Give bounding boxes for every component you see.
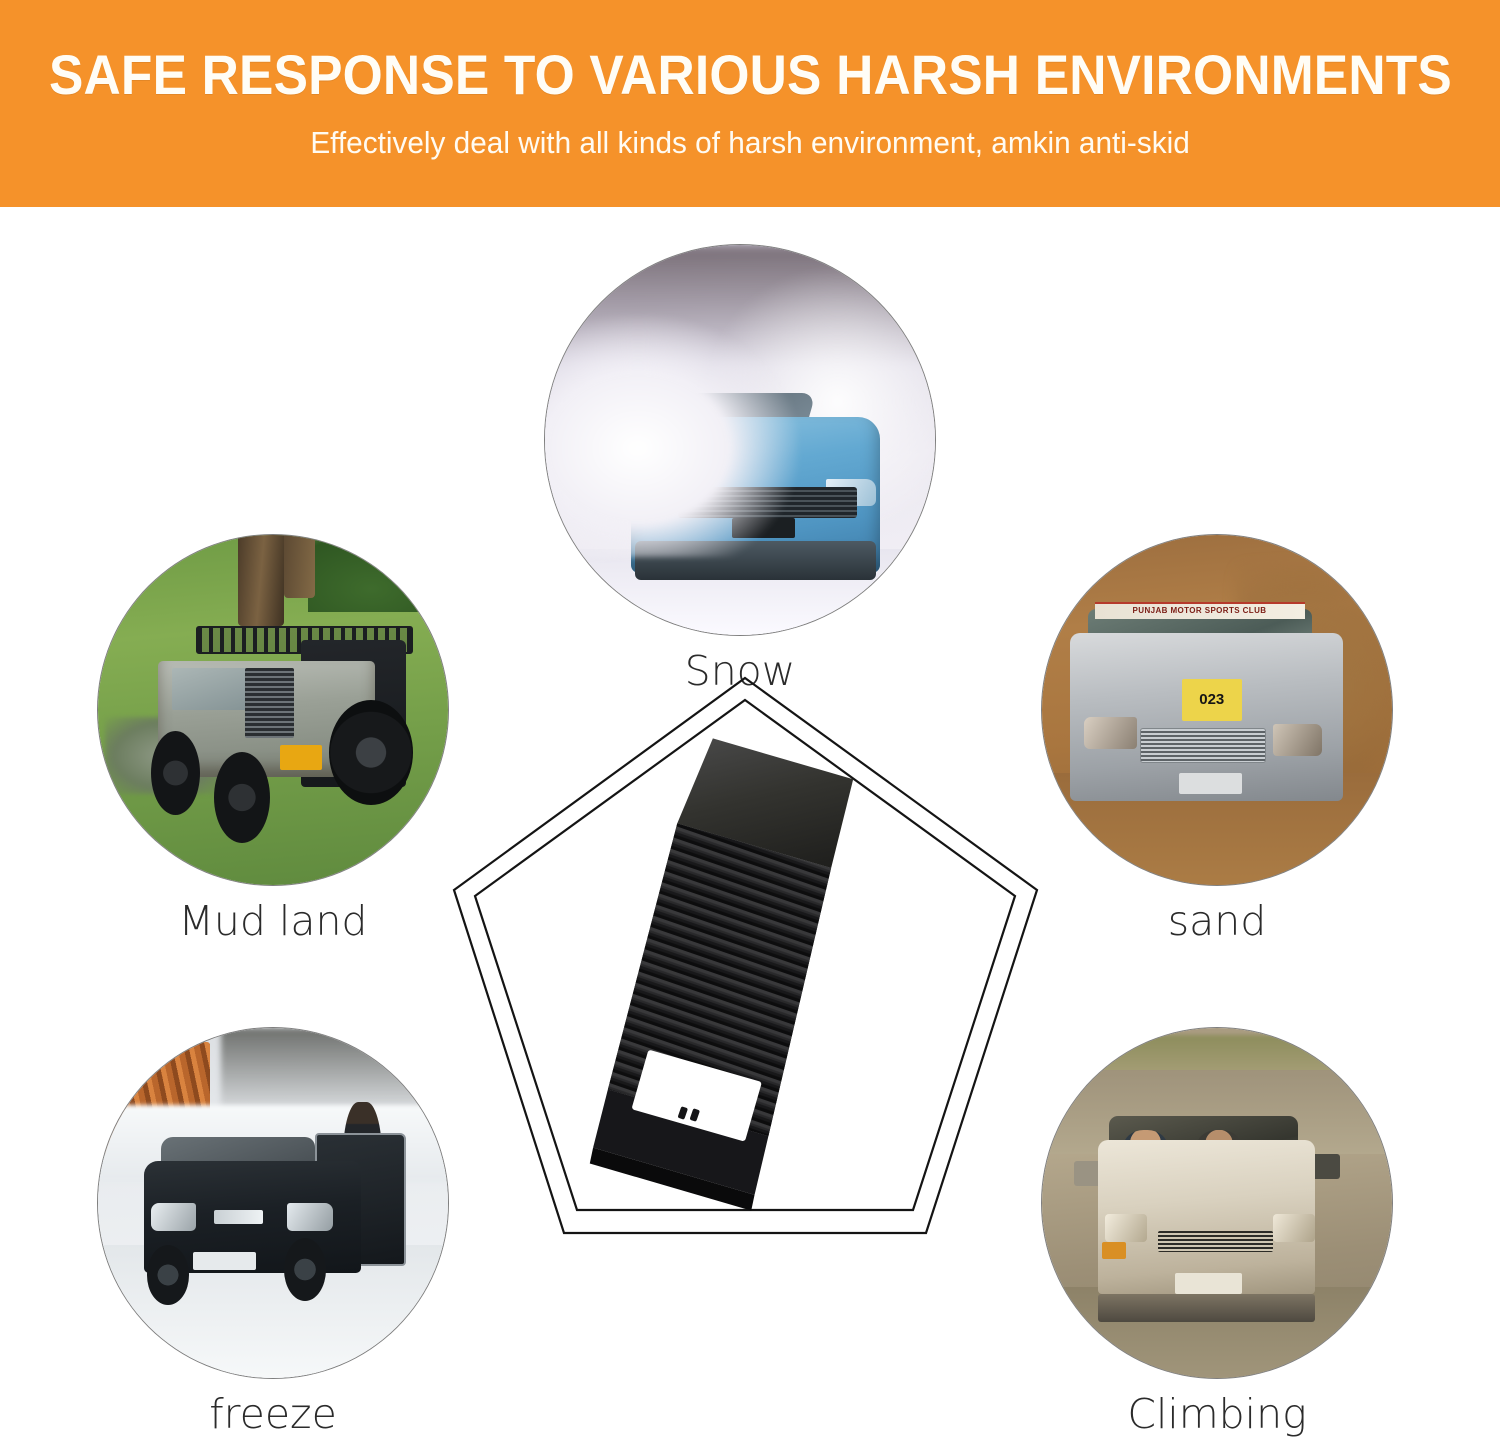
feature-node-mud[interactable]: Mud land (98, 535, 448, 945)
sand-windshield-banner-text: PUNJAB MOTOR SPORTS CLUB (1095, 600, 1305, 621)
mud-photo (98, 535, 448, 885)
pentagon-and-product (440, 650, 1060, 1250)
traction-mat-product (563, 730, 895, 1218)
sand-photo: PUNJAB MOTOR SPORTS CLUB 023 (1042, 535, 1392, 885)
feature-node-snow[interactable]: Snow (545, 245, 935, 695)
snow-photo (545, 245, 935, 635)
page-subtitle: Effectively deal with all kinds of harsh… (310, 125, 1189, 161)
feature-label-mud: Mud land (98, 897, 448, 945)
feature-node-climbing[interactable]: Climbing (1042, 1028, 1392, 1438)
page-title: SAFE RESPONSE TO VARIOUS HARSH ENVIRONME… (49, 46, 1452, 105)
header-banner: SAFE RESPONSE TO VARIOUS HARSH ENVIRONME… (0, 0, 1500, 207)
freeze-photo (98, 1028, 448, 1378)
feature-node-sand[interactable]: PUNJAB MOTOR SPORTS CLUB 023 sand (1042, 535, 1392, 945)
feature-label-sand: sand (1042, 897, 1392, 945)
feature-label-freeze: freeze (98, 1390, 448, 1438)
center-stage (440, 650, 1060, 1250)
climbing-photo (1042, 1028, 1392, 1378)
feature-label-climbing: Climbing (1042, 1390, 1392, 1438)
sand-race-number-text: 023 (1182, 679, 1242, 721)
feature-node-freeze[interactable]: freeze (98, 1028, 448, 1438)
